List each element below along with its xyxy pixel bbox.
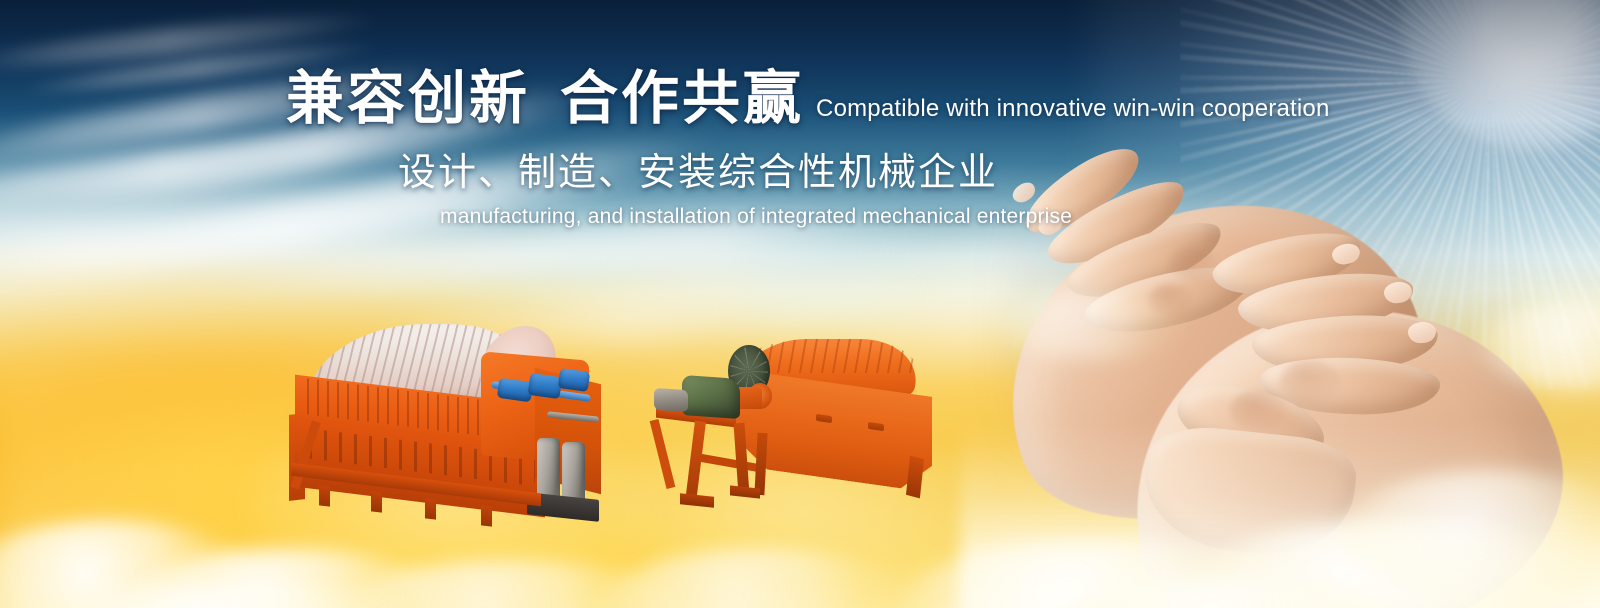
banner-text-block: 兼容创新 合作共赢 Compatible with innovative win… <box>286 68 1266 229</box>
machine-motor <box>654 388 688 412</box>
cloud-puff <box>1000 290 1180 360</box>
subheadline-chinese: 设计、制造、安装综合性机械企业 <box>398 141 1266 196</box>
machine-foot <box>680 493 714 508</box>
machine-leg <box>425 498 436 519</box>
machine-foot <box>730 485 760 498</box>
machine-leg <box>371 491 382 512</box>
promotional-banner: 兼容创新 合作共赢 Compatible with innovative win… <box>0 0 1600 608</box>
headline-chinese-part-2: 合作共赢 <box>560 68 804 129</box>
headline-english: Compatible with innovative win-win coope… <box>816 95 1329 123</box>
subheadline-english: manufacturing, and installation of integ… <box>440 205 1266 229</box>
machine-gearbox <box>682 375 740 419</box>
ceramic-disc-vacuum-filter <box>285 318 615 533</box>
knuckle <box>1280 360 1340 402</box>
headline-chinese-part-1: 兼容创新 <box>286 68 530 129</box>
machine-leg <box>319 485 330 506</box>
headline-row: 兼容创新 合作共赢 Compatible with innovative win… <box>286 68 1266 129</box>
machine-leg <box>481 505 492 526</box>
magnetic-separator <box>640 337 960 512</box>
machine-strut <box>650 419 676 489</box>
machine-leg <box>754 433 767 495</box>
knuckle <box>1170 246 1216 280</box>
machine-motor <box>558 368 590 392</box>
machine-leg <box>906 456 924 499</box>
machine-motor <box>528 373 563 399</box>
